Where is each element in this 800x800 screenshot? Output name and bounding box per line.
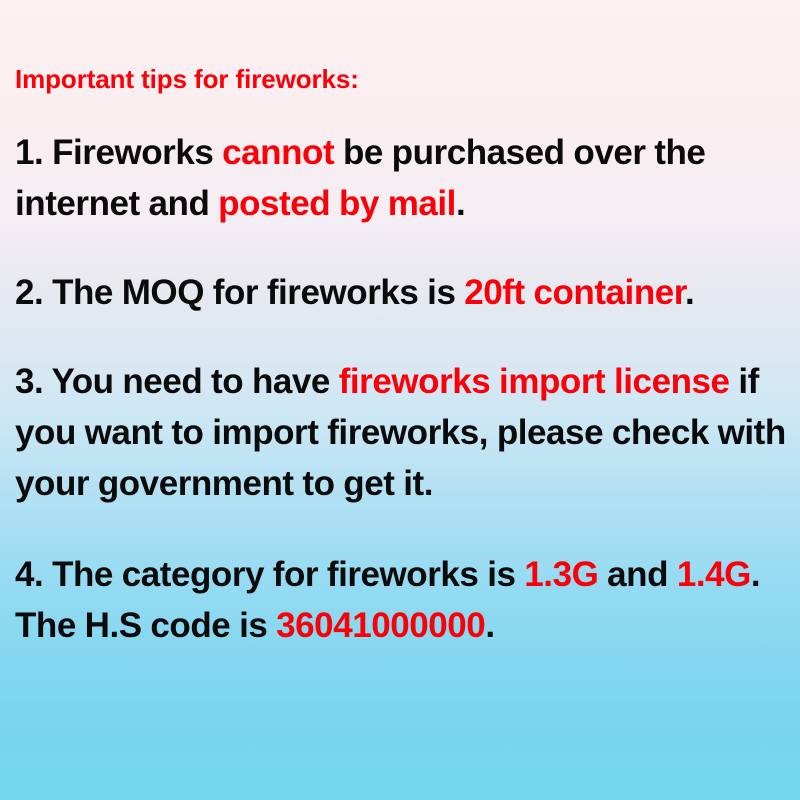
page-title: Important tips for fireworks: <box>15 62 786 96</box>
tip-4-highlight-hs-code: 36041000000 <box>276 606 485 645</box>
tip-1-number: 1. <box>15 133 43 172</box>
tip-2-number: 2. <box>15 273 43 312</box>
tip-4-highlight-category-2: 1.4G <box>677 555 751 594</box>
tip-1-highlight-a: cannot <box>222 133 334 172</box>
tip-4-text-d: . <box>485 606 494 645</box>
tip-3-number: 3. <box>15 362 43 401</box>
tip-1-text-a: Fireworks <box>43 133 222 172</box>
tip-4-text-b: and <box>598 555 676 594</box>
fireworks-tips-notice: Important tips for fireworks: 1. Firewor… <box>0 0 800 800</box>
tip-2-highlight-a: 20ft container <box>464 273 685 312</box>
tip-1-text-c: . <box>456 184 465 223</box>
tip-2-text-b: . <box>685 273 694 312</box>
tip-3-text-a: You need to have <box>43 362 338 401</box>
tip-4-highlight-category-1: 1.3G <box>524 555 598 594</box>
tip-item-2: 2. The MOQ for fireworks is 20ft contain… <box>15 267 786 318</box>
tip-4-number: 4. <box>15 555 43 594</box>
tip-4-text-a: The category for fireworks is <box>43 555 524 594</box>
tip-3-highlight-a: fireworks import license <box>339 362 730 401</box>
tip-item-1: 1. Fireworks cannot be purchased over th… <box>15 127 786 229</box>
tip-item-3: 3. You need to have fireworks import lic… <box>15 356 786 509</box>
tip-2-text-a: The MOQ for fireworks is <box>43 273 464 312</box>
tip-item-4: 4. The category for fireworks is 1.3G an… <box>15 549 786 651</box>
tip-1-highlight-b: posted by mail <box>218 184 456 223</box>
